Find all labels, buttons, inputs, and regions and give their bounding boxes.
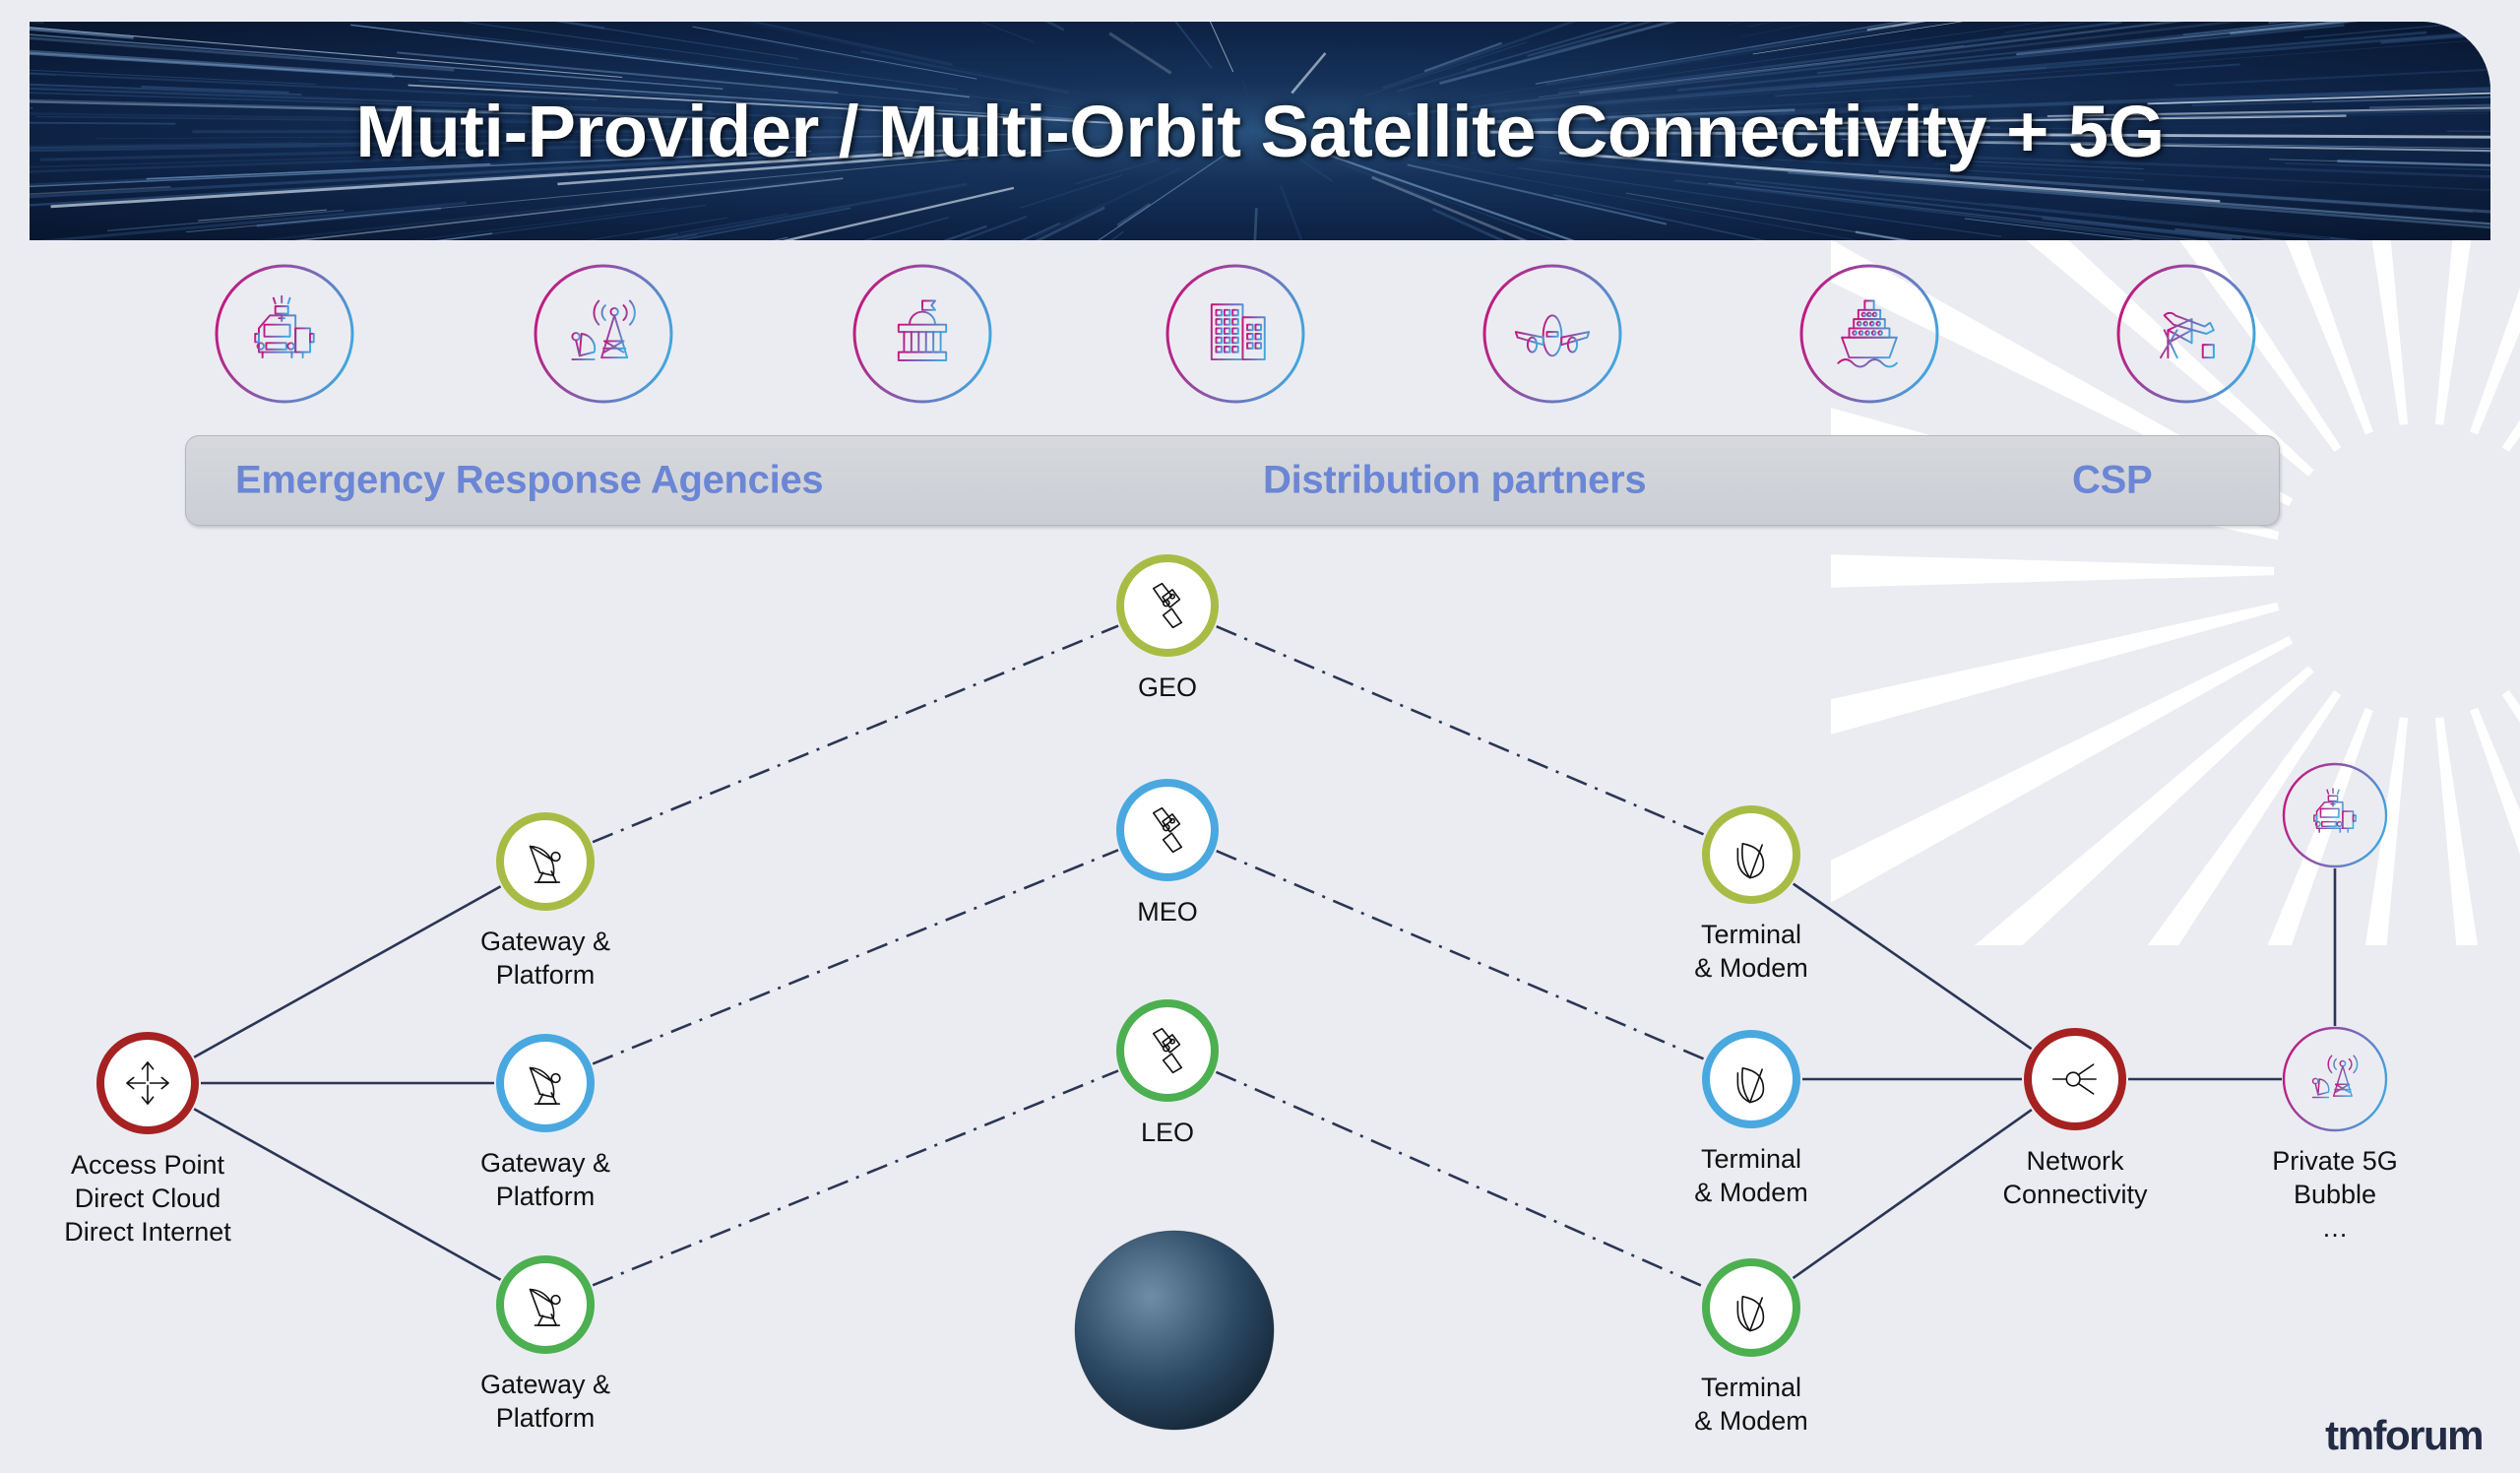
government-icon	[899, 301, 946, 360]
node-label-network-connectivity: Network Connectivity	[2002, 1144, 2147, 1211]
ambulance-icon	[2314, 789, 2356, 832]
office-building-icon	[1206, 304, 1268, 359]
persona-dish-tower-icon	[530, 260, 677, 408]
airplane-icon	[1516, 302, 1589, 355]
node-terminal-3[interactable]	[1706, 1262, 1796, 1353]
node-label-terminal-1: Terminal & Modem	[1694, 918, 1808, 985]
label-distribution-partners: Distribution partners	[1263, 459, 1646, 503]
tmforum-logo: tmforum	[2325, 1412, 2483, 1459]
node-label-terminal-3: Terminal & Modem	[1694, 1371, 1808, 1438]
ambulance-icon	[255, 296, 314, 357]
link-solid-terminal-3-network-connectivity	[1793, 1110, 2031, 1278]
link-dashdot-sat-geo-terminal-1	[1217, 626, 1705, 834]
node-label-gateway-3: Gateway & Platform	[480, 1368, 610, 1435]
node-gateway-3[interactable]	[500, 1259, 591, 1350]
node-ring	[2284, 764, 2386, 866]
slide-canvas: Muti-Provider / Multi-Orbit Satellite Co…	[0, 0, 2520, 1473]
node-sat-leo[interactable]	[1120, 1003, 1215, 1098]
node-label-sat-leo: LEO	[1141, 1116, 1194, 1149]
node-terminal-2[interactable]	[1706, 1034, 1796, 1124]
node-label-gateway-2: Gateway & Platform	[480, 1146, 610, 1213]
dish-tower-icon	[2313, 1056, 2358, 1097]
persona-ship-icon	[1795, 260, 1943, 408]
persona-icon-row	[0, 248, 2520, 423]
network-diagram	[0, 512, 2520, 1473]
persona-office-building-icon	[1162, 260, 1309, 408]
node-network-connectivity[interactable]	[2028, 1032, 2122, 1126]
node-sat-meo[interactable]	[1120, 783, 1215, 877]
persona-oil-pump-icon	[2112, 260, 2260, 408]
node-terminal-1[interactable]	[1706, 809, 1796, 900]
node-sat-geo[interactable]	[1120, 558, 1215, 653]
node-label-terminal-2: Terminal & Modem	[1694, 1142, 1808, 1209]
label-csp: CSP	[2072, 459, 2152, 503]
node-label-sat-geo: GEO	[1138, 671, 1197, 704]
persona-airplane-icon	[1479, 260, 1626, 408]
link-dashdot-gateway-2-sat-meo	[593, 850, 1118, 1063]
node-label-gateway-1: Gateway & Platform	[480, 925, 610, 992]
link-solid-access-point-gateway-1	[194, 886, 500, 1057]
title-banner: Muti-Provider / Multi-Orbit Satellite Co…	[30, 22, 2490, 240]
ship-icon	[1838, 301, 1897, 367]
node-ring	[2284, 1028, 2386, 1130]
link-dashdot-gateway-1-sat-geo	[593, 626, 1118, 843]
node-gateway-2[interactable]	[500, 1038, 591, 1128]
node-access-point[interactable]	[100, 1036, 195, 1130]
node-label-access-point: Access Point Direct Cloud Direct Interne…	[64, 1148, 231, 1249]
node-label-sat-meo: MEO	[1137, 895, 1198, 929]
oil-pump-icon	[2155, 313, 2219, 357]
node-bubble-ambulance[interactable]	[2284, 764, 2386, 866]
banner-title: Muti-Provider / Multi-Orbit Satellite Co…	[30, 22, 2490, 240]
link-solid-access-point-gateway-3	[194, 1109, 500, 1279]
link-dashdot-sat-leo-terminal-3	[1216, 1072, 1704, 1287]
node-gateway-1[interactable]	[500, 816, 591, 907]
link-solid-terminal-1-network-connectivity	[1794, 884, 2032, 1050]
dish-tower-icon	[572, 301, 635, 360]
persona-ambulance-icon	[211, 260, 358, 408]
persona-government-icon	[849, 260, 996, 408]
node-private-5g-bubble[interactable]	[2284, 1028, 2386, 1130]
link-dashdot-gateway-3-sat-leo	[593, 1070, 1118, 1285]
node-label-private-5g-bubble: Private 5G Bubble …	[2272, 1144, 2398, 1245]
label-emergency-response-agencies: Emergency Response Agencies	[235, 459, 823, 503]
link-dashdot-sat-meo-terminal-2	[1217, 851, 1705, 1058]
